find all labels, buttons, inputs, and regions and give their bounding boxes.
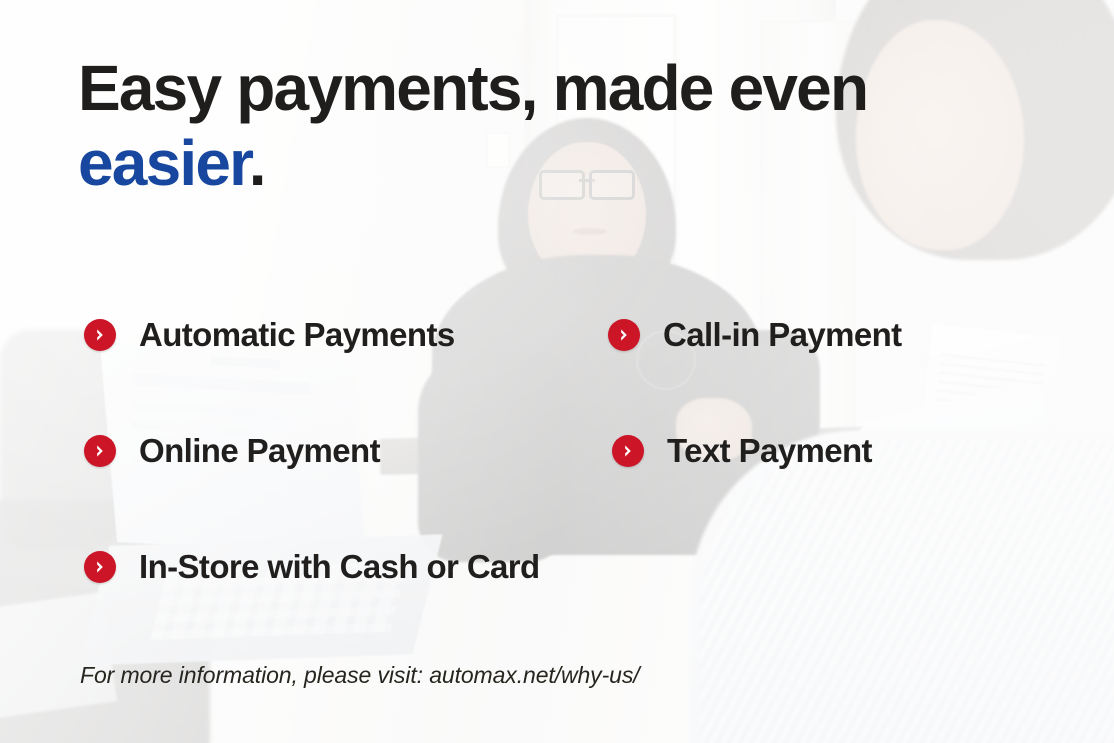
payment-options-list: Automatic Payments Call-in Payment Onlin… [0,0,1114,743]
list-item[interactable]: Call-in Payment [608,316,902,354]
footer-note: For more information, please visit: auto… [80,662,640,689]
promo-poster: Easy payments, made even easier. Automat… [0,0,1114,743]
chevron-right-circle-icon [612,435,644,467]
list-item[interactable]: Automatic Payments [84,316,455,354]
chevron-right-circle-icon [608,319,640,351]
chevron-right-circle-icon [84,551,116,583]
list-item-label: In-Store with Cash or Card [139,548,540,586]
list-item-label: Call-in Payment [663,316,902,354]
list-item[interactable]: Text Payment [612,432,872,470]
chevron-right-circle-icon [84,435,116,467]
list-item[interactable]: In-Store with Cash or Card [84,548,540,586]
chevron-right-circle-icon [84,319,116,351]
list-item-label: Text Payment [667,432,872,470]
list-item-label: Online Payment [139,432,380,470]
list-item[interactable]: Online Payment [84,432,380,470]
list-item-label: Automatic Payments [139,316,455,354]
poster-content: Easy payments, made even easier. Automat… [0,0,1114,743]
